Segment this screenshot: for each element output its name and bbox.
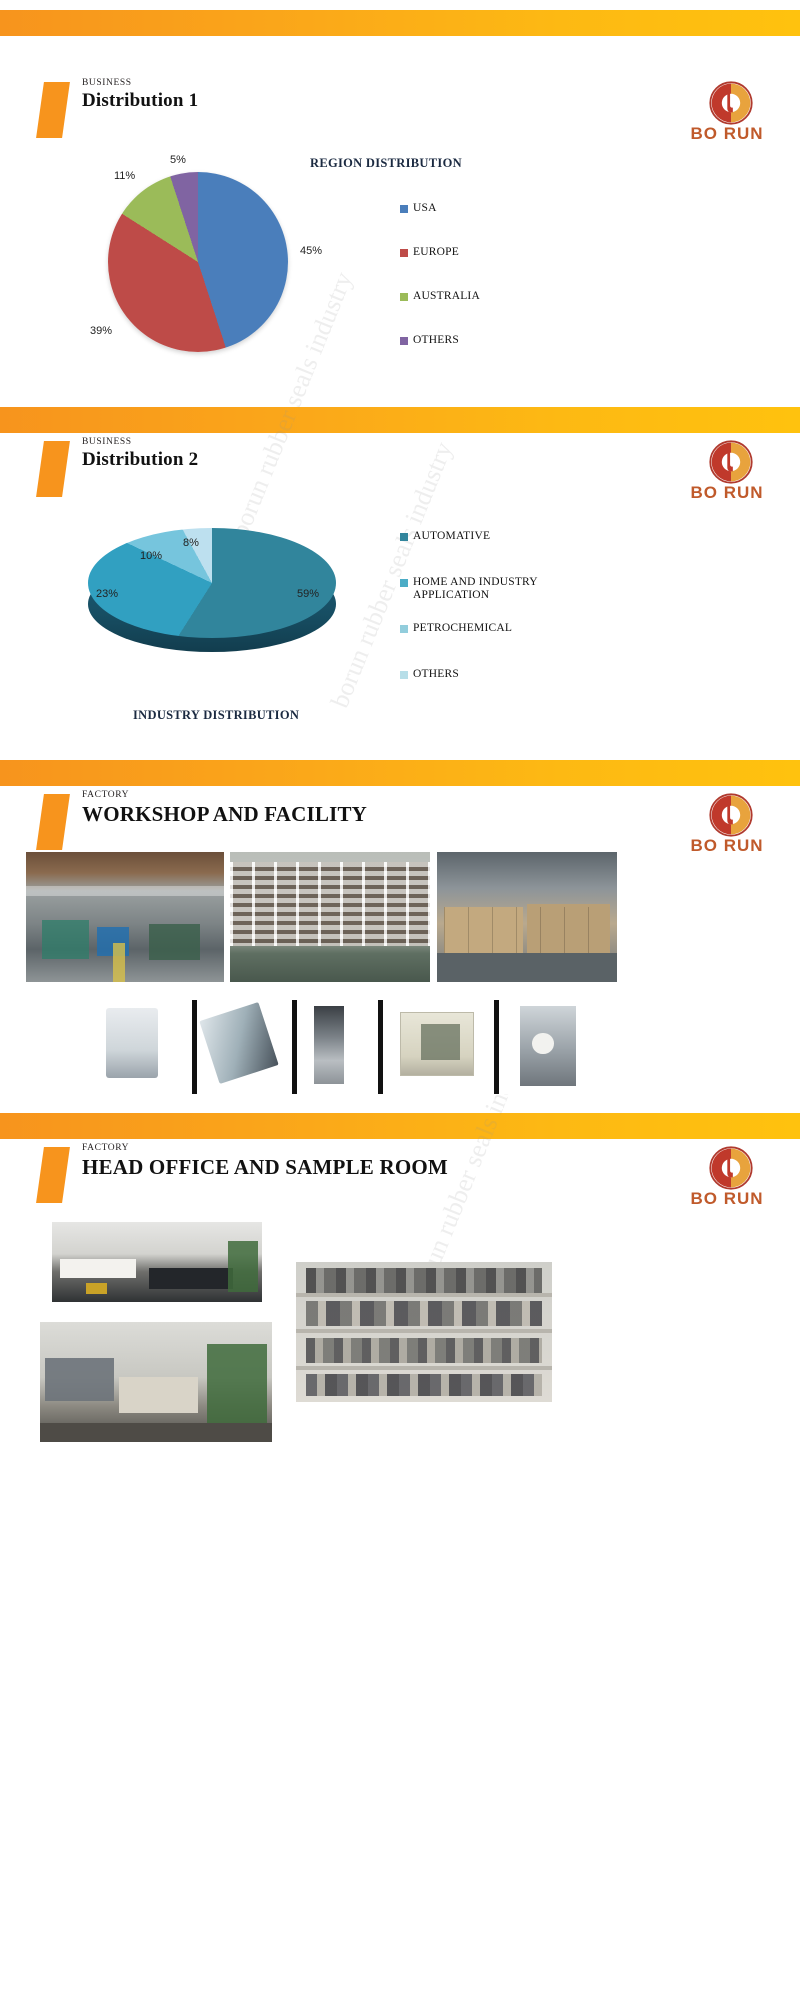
brand-logo: BO RUN (672, 792, 782, 858)
mold-rack-storage-photo[interactable] (230, 852, 430, 982)
precision-balance-photo[interactable] (106, 1008, 158, 1078)
section-title: Distribution 1 (82, 90, 198, 112)
pie-slices (108, 172, 288, 352)
pie-value-label-others: 5% (170, 154, 186, 166)
legend-label: OTHERS (413, 668, 459, 681)
legend-label: OTHERS (413, 334, 459, 347)
office-workspace-photo[interactable] (40, 1322, 272, 1442)
borun-logo-icon (708, 80, 754, 126)
workshop-floor-photo[interactable] (26, 852, 224, 982)
packed-goods-warehouse-photo[interactable] (437, 852, 617, 982)
legend-item[interactable]: OTHERS (400, 668, 553, 714)
divider-bar-3 (0, 760, 800, 786)
legend-label: HOME AND INDUSTRY APPLICATION (413, 576, 553, 602)
chart-legend-industry: AUTOMATIVE HOME AND INDUSTRY APPLICATION… (400, 530, 553, 714)
chart-industry-distribution: 59% 23% 10% 8% INDUSTRY DISTRIBUTION AUT… (0, 520, 800, 750)
section-header-workshop: FACTORY WORKSHOP AND FACILITY BO RUN (0, 790, 800, 860)
borun-logo-icon (708, 792, 754, 838)
legend-swatch-others (400, 671, 408, 679)
office-reception-photo[interactable] (52, 1222, 262, 1302)
legend-label: AUSTRALIA (413, 290, 480, 303)
legend-swatch-europe (400, 249, 408, 257)
legend-item[interactable]: OTHERS (400, 334, 480, 378)
accent-tab (36, 794, 70, 850)
section-title: HEAD OFFICE AND SAMPLE ROOM (82, 1155, 448, 1180)
brand-name: BO RUN (672, 124, 782, 144)
section-eyebrow: BUSINESS (82, 437, 198, 447)
strip-separator (292, 1000, 297, 1094)
borun-logo-icon (708, 439, 754, 485)
borun-logo-icon (708, 1145, 754, 1191)
legend-swatch-petrochemical (400, 625, 408, 633)
legend-swatch-australia (400, 293, 408, 301)
pie-value-label-others: 8% (183, 537, 199, 549)
accent-tab (36, 1147, 70, 1203)
section-eyebrow: FACTORY (82, 790, 367, 800)
legend-label: AUTOMATIVE (413, 530, 490, 543)
divider-bar-2 (0, 407, 800, 433)
hardness-tester-photo[interactable] (520, 1006, 576, 1086)
section-header-head-office: FACTORY HEAD OFFICE AND SAMPLE ROOM BO R… (0, 1143, 800, 1213)
divider-bar-top (0, 10, 800, 36)
brand-logo: BO RUN (672, 1145, 782, 1211)
pie-chart-graphic (108, 172, 288, 352)
legend-label: EUROPE (413, 246, 459, 259)
legend-swatch-usa (400, 205, 408, 213)
legend-label: USA (413, 202, 437, 215)
digital-caliper-photo[interactable] (199, 1002, 278, 1084)
legend-item[interactable]: AUTOMATIVE (400, 530, 553, 576)
section-header-distribution-1: BUSINESS Distribution 1 BO RUN (0, 78, 800, 148)
pie-value-label-petrochemical: 10% (140, 550, 162, 562)
section-title: WORKSHOP AND FACILITY (82, 802, 367, 827)
legend-item[interactable]: AUSTRALIA (400, 290, 480, 334)
legend-swatch-automative (400, 533, 408, 541)
legend-swatch-others (400, 337, 408, 345)
pie-3d-top (88, 528, 336, 638)
legend-item[interactable]: HOME AND INDUSTRY APPLICATION (400, 576, 553, 622)
strip-separator (192, 1000, 197, 1094)
brand-name: BO RUN (672, 483, 782, 503)
pie-value-label-usa: 45% (300, 245, 322, 257)
section-eyebrow: FACTORY (82, 1143, 448, 1153)
brand-name: BO RUN (672, 1189, 782, 1209)
legend-item[interactable]: PETROCHEMICAL (400, 622, 553, 668)
divider-bar-4 (0, 1113, 800, 1139)
chart-legend-region: USA EUROPE AUSTRALIA OTHERS (400, 202, 480, 378)
equipment-photo-strip (96, 1000, 596, 1094)
strip-separator (494, 1000, 499, 1094)
chart-region-distribution: 45% 39% 11% 5% REGION DISTRIBUTION USA E… (0, 150, 800, 390)
drying-oven-photo[interactable] (400, 1012, 474, 1076)
brand-name: BO RUN (672, 836, 782, 856)
accent-tab (36, 441, 70, 497)
chart-title-industry: INDUSTRY DISTRIBUTION (133, 708, 299, 723)
tensile-tester-photo[interactable] (314, 1006, 344, 1084)
pie-value-label-home-industry: 23% (96, 588, 118, 600)
pie-value-label-australia: 11% (114, 170, 135, 182)
strip-separator (378, 1000, 383, 1094)
pie-value-label-europe: 39% (90, 325, 112, 337)
legend-item[interactable]: EUROPE (400, 246, 480, 290)
catalog-page: borun rubber seals industry borun rubber… (0, 0, 800, 2000)
section-title: Distribution 2 (82, 449, 198, 471)
section-header-distribution-2: BUSINESS Distribution 2 BO RUN (0, 437, 800, 507)
legend-label: PETROCHEMICAL (413, 622, 512, 635)
legend-item[interactable]: USA (400, 202, 480, 246)
pie-value-label-automative: 59% (297, 588, 319, 600)
legend-swatch-home-industry (400, 579, 408, 587)
sample-room-shelves-photo[interactable] (296, 1262, 552, 1402)
brand-logo: BO RUN (672, 80, 782, 146)
accent-tab (36, 82, 70, 138)
section-eyebrow: BUSINESS (82, 78, 198, 88)
brand-logo: BO RUN (672, 439, 782, 505)
chart-title-region: REGION DISTRIBUTION (310, 156, 462, 171)
